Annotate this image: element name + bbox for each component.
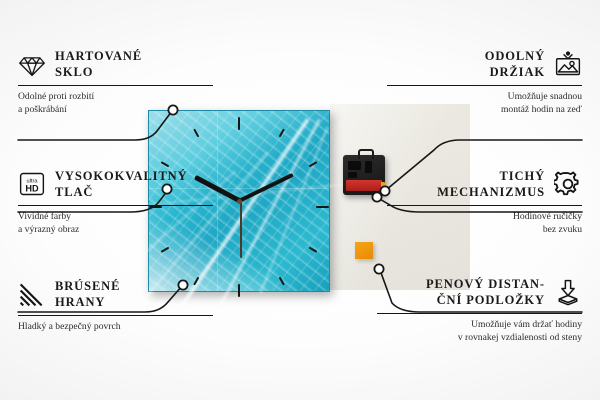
feature-divider bbox=[377, 313, 582, 314]
feature-title: BRÚSENÉ HRANY bbox=[55, 278, 120, 310]
feature-header: ultra HD VYSOKOKVALITNÝ TLAČ bbox=[18, 168, 250, 200]
feature-durable-holder[interactable]: ODOLNÝ DRŽIAK Umožňuje snadnou montáž ho… bbox=[350, 48, 582, 116]
feature-silent-mechanism[interactable]: TICHÝ MECHANIZMUS Hodinové ručičky bez z… bbox=[350, 168, 582, 236]
feature-title: ODOLNÝ DRŽIAK bbox=[485, 48, 545, 80]
feature-header: PENOVÝ DISTAN- ČNÍ PODLOŽKY bbox=[350, 276, 582, 308]
feature-title: PENOVÝ DISTAN- ČNÍ PODLOŽKY bbox=[426, 276, 545, 308]
feature-divider bbox=[18, 85, 213, 86]
feature-header: ODOLNÝ DRŽIAK bbox=[350, 48, 582, 80]
feature-foam-spacers[interactable]: PENOVÝ DISTAN- ČNÍ PODLOŽKY Umožňuje vám… bbox=[350, 276, 582, 344]
beveled-edge-icon bbox=[18, 280, 46, 308]
feature-description: Odolné proti rozbití a poškrábání bbox=[18, 90, 250, 116]
feature-divider bbox=[18, 315, 213, 316]
gear-icon bbox=[554, 170, 582, 198]
hanger-hook bbox=[358, 149, 374, 159]
feature-high-quality-print[interactable]: ultra HD VYSOKOKVALITNÝ TLAČ Vividné far… bbox=[18, 168, 250, 236]
svg-text:HD: HD bbox=[25, 183, 39, 193]
ultra-hd-badge-icon: ultra HD bbox=[18, 170, 46, 198]
feature-tempered-glass[interactable]: HARTOVANÉ SKLO Odolné proti rozbití a po… bbox=[18, 48, 250, 116]
feature-description: Vividné farby a výrazný obraz bbox=[18, 210, 250, 236]
diamond-icon bbox=[18, 50, 46, 78]
press-down-pad-icon bbox=[554, 278, 582, 306]
feature-divider bbox=[18, 205, 213, 206]
feature-header: HARTOVANÉ SKLO bbox=[18, 48, 250, 80]
foam-spacer-pad bbox=[355, 242, 373, 259]
feature-description: Hladký a bezpečný povrch bbox=[18, 320, 250, 333]
hanging-picture-icon bbox=[554, 50, 582, 78]
feature-description: Umožňuje vám držať hodiny v rovnakej vzd… bbox=[350, 318, 582, 344]
feature-title: HARTOVANÉ SKLO bbox=[55, 48, 142, 80]
feature-description: Hodinové ručičky bez zvuku bbox=[350, 210, 582, 236]
feature-divider bbox=[387, 205, 582, 206]
feature-divider bbox=[387, 85, 582, 86]
feature-polished-edges[interactable]: BRÚSENÉ HRANY Hladký a bezpečný povrch bbox=[18, 278, 250, 333]
feature-title: TICHÝ MECHANIZMUS bbox=[437, 168, 545, 200]
feature-header: BRÚSENÉ HRANY bbox=[18, 278, 250, 310]
feature-description: Umožňuje snadnou montáž hodin na zeď bbox=[350, 90, 582, 116]
feature-header: TICHÝ MECHANIZMUS bbox=[350, 168, 582, 200]
infographic-canvas: HARTOVANÉ SKLO Odolné proti rozbití a po… bbox=[0, 0, 600, 400]
feature-title: VYSOKOKVALITNÝ TLAČ bbox=[55, 168, 188, 200]
